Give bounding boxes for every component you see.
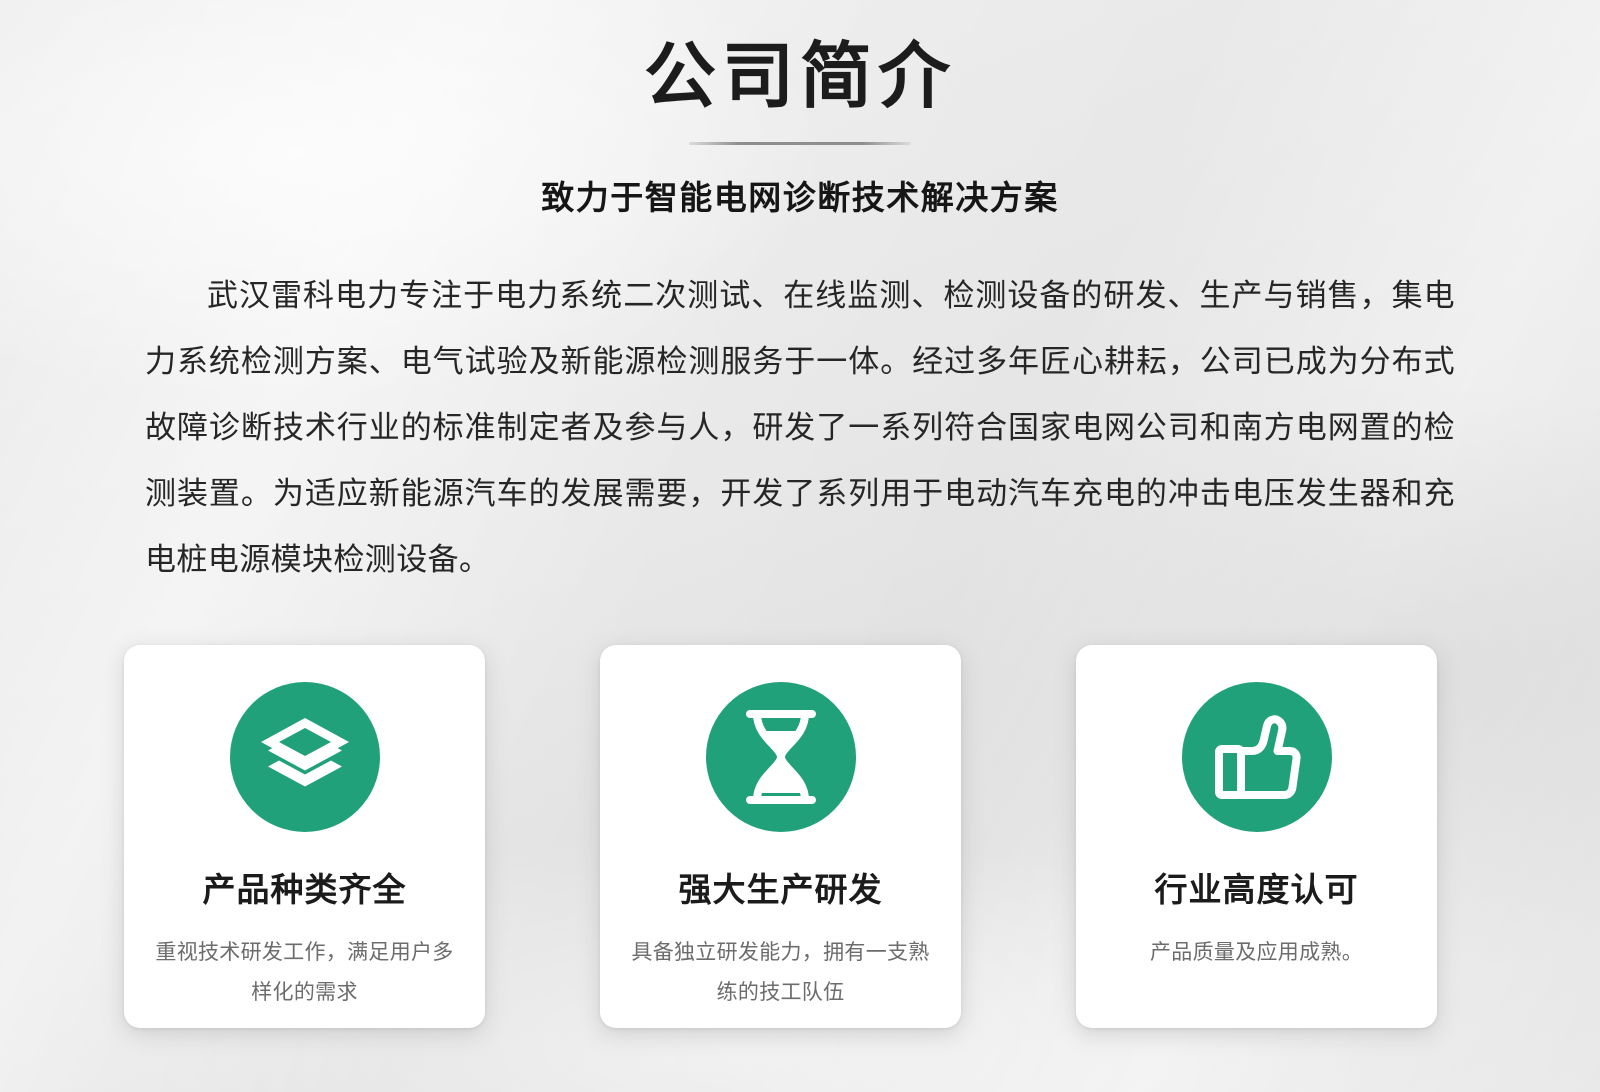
feature-card-title: 行业高度认可 (1155, 872, 1359, 908)
layers-icon (230, 682, 380, 832)
feature-card[interactable]: 产品种类齐全 重视技术研发工作，满足用户多样化的需求 (124, 645, 485, 1028)
feature-card-description: 产品质量及应用成熟。 (1107, 933, 1407, 973)
page-title: 公司简介 (0, 40, 1600, 116)
feature-card[interactable]: 行业高度认可 产品质量及应用成熟。 (1076, 645, 1437, 1028)
page-subtitle: 致力于智能电网诊断技术解决方案 (0, 171, 1600, 219)
page-header: 公司简介 致力于智能电网诊断技术解决方案 (0, 0, 1600, 219)
title-divider (689, 142, 911, 145)
feature-card-title: 强大生产研发 (679, 872, 883, 908)
feature-card-description: 重视技术研发工作，满足用户多样化的需求 (155, 933, 455, 1013)
company-intro-paragraph: 武汉雷科电力专注于电力系统二次测试、在线监测、检测设备的研发、生产与销售，集电力… (145, 263, 1455, 593)
feature-card-title: 产品种类齐全 (203, 872, 407, 908)
feature-card[interactable]: 强大生产研发 具备独立研发能力，拥有一支熟练的技工队伍 (600, 645, 961, 1028)
feature-card-list: 产品种类齐全 重视技术研发工作，满足用户多样化的需求 强大生产研发 具备独立 (124, 645, 1437, 1028)
thumbs-up-icon (1182, 682, 1332, 832)
hourglass-icon (706, 682, 856, 832)
feature-card-description: 具备独立研发能力，拥有一支熟练的技工队伍 (631, 933, 931, 1013)
company-profile-page: 公司简介 致力于智能电网诊断技术解决方案 武汉雷科电力专注于电力系统二次测试、在… (0, 0, 1600, 1092)
